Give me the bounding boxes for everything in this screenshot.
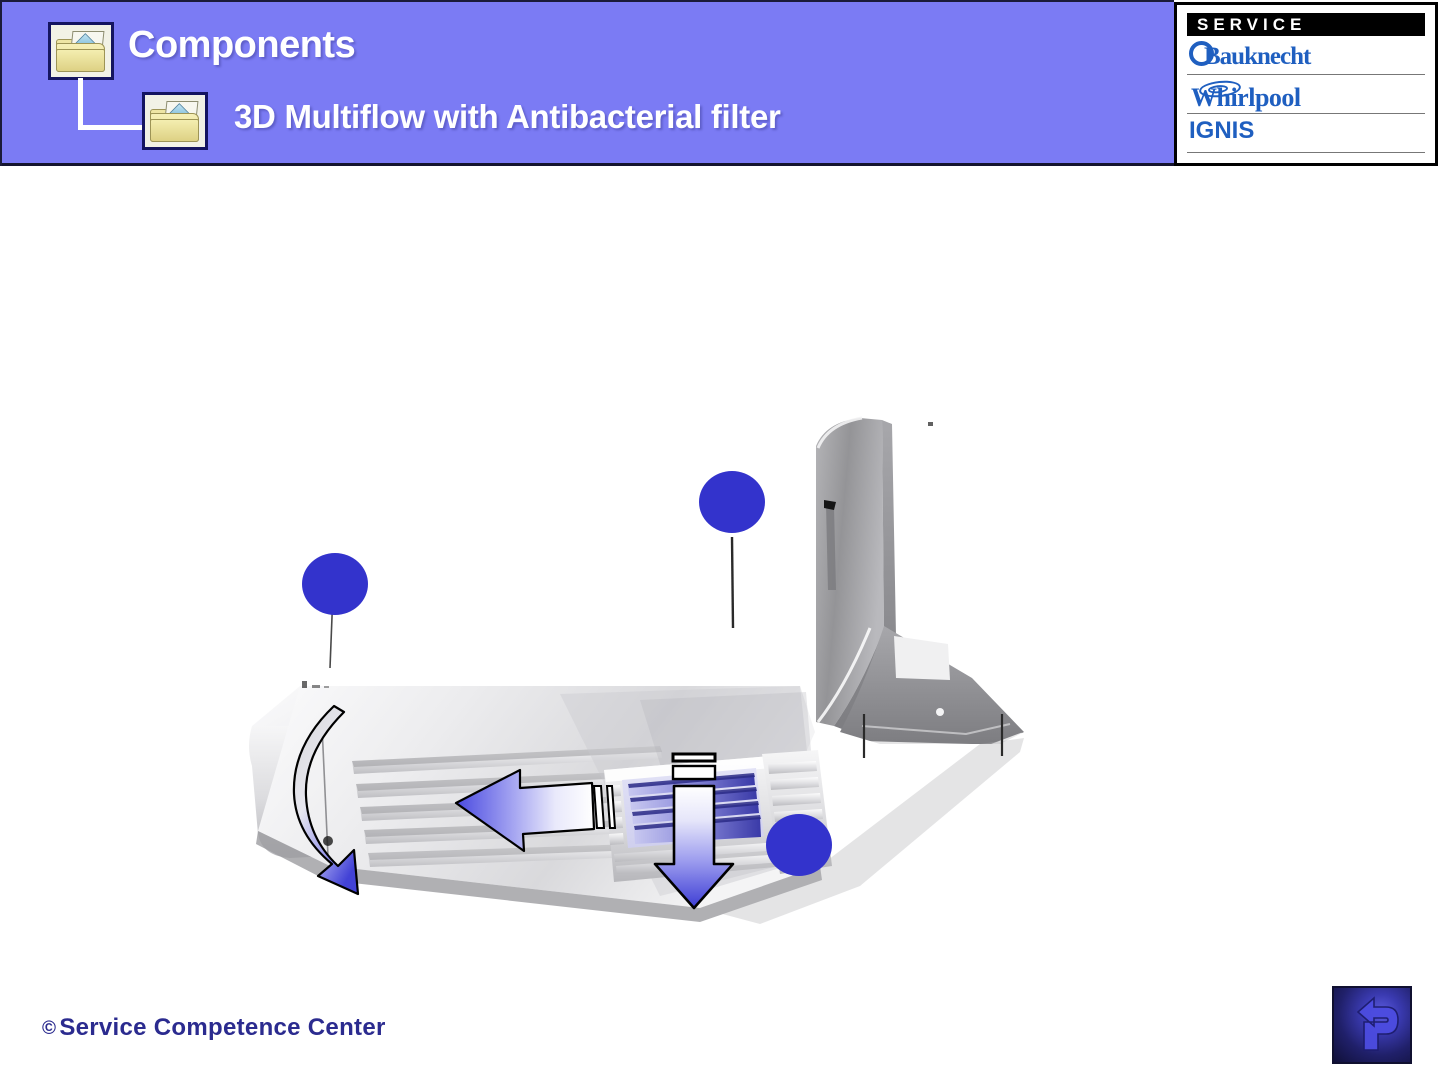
- footer-copyright: ©Service Competence Center: [42, 1014, 386, 1042]
- page-subtitle: 3D Multiflow with Antibacterial filter: [234, 98, 781, 136]
- folder-front-shape: [56, 49, 105, 72]
- brand-row-ignis: IGNIS: [1187, 114, 1425, 153]
- arrow-down-cap-1: [673, 754, 715, 761]
- marker-dot-1[interactable]: [302, 553, 368, 615]
- ignis-logo: IGNIS: [1189, 117, 1254, 145]
- brand-row-bauknecht: Bauknecht: [1187, 36, 1425, 75]
- marker-dot-3[interactable]: [766, 814, 832, 876]
- copyright-icon: ©: [42, 1018, 56, 1039]
- header-bar: Components 3D Multiflow with Antibacteri…: [0, 0, 1174, 166]
- bracket-cutout: [894, 636, 950, 680]
- brand-row-whirlpool: Whirlpool: [1187, 75, 1425, 114]
- connector-vertical-segment: [78, 78, 83, 130]
- folder-parent-icon: [48, 22, 114, 80]
- brand-logo-panel: SERVICE Bauknecht Whirlpool IGNIS: [1174, 2, 1438, 166]
- footer-label: Service Competence Center: [59, 1014, 385, 1041]
- folder-child-icon: [142, 92, 208, 150]
- bauknecht-logo: Bauknecht: [1189, 41, 1310, 71]
- breadcrumb-connector-line: [78, 78, 144, 130]
- bracket-hole: [936, 708, 944, 716]
- connector-horizontal-segment: [78, 125, 144, 130]
- product-illustration: [0, 166, 1440, 946]
- small-surface-marks: [302, 681, 329, 688]
- leader-line-marker-2: [732, 537, 733, 628]
- back-arrow-icon: [1334, 988, 1410, 1062]
- bauknecht-logo-text: Bauknecht: [1204, 43, 1310, 70]
- arrow-down-cap-2: [673, 766, 715, 779]
- back-button[interactable]: [1332, 986, 1412, 1064]
- mounting-bracket: [816, 418, 1024, 764]
- page-title: Components: [128, 24, 355, 67]
- folder-front-shape: [150, 119, 199, 142]
- marker-dot-2[interactable]: [699, 471, 765, 533]
- service-banner-label: SERVICE: [1187, 13, 1425, 36]
- whirlpool-logo: Whirlpool: [1191, 83, 1301, 113]
